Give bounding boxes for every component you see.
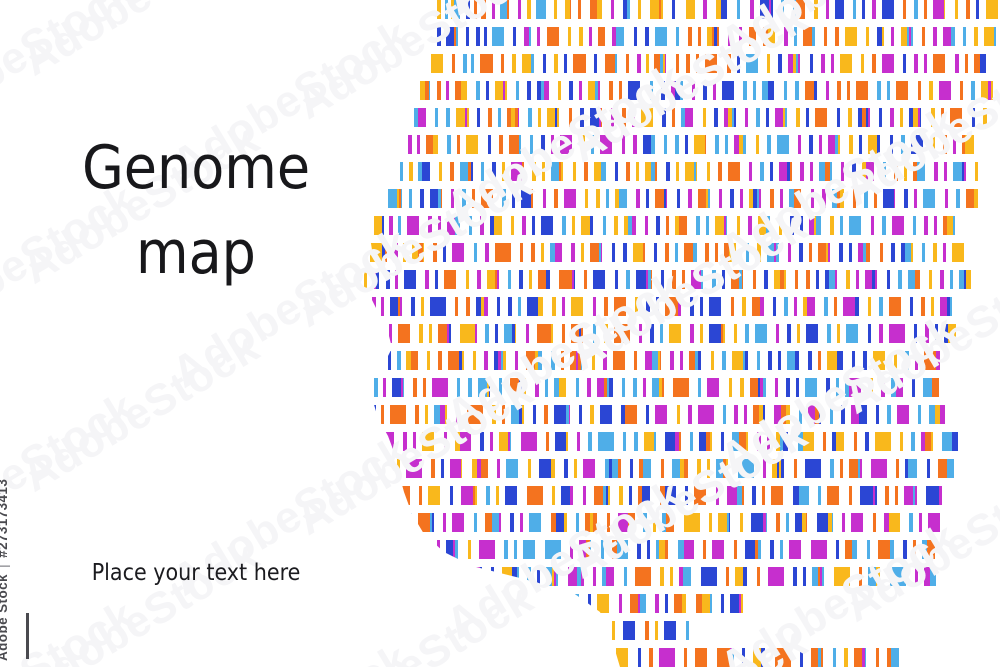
genome-bar bbox=[615, 189, 619, 208]
genome-bar bbox=[745, 540, 755, 559]
genome-bar bbox=[948, 324, 956, 343]
genome-bar bbox=[486, 189, 489, 208]
genome-bar bbox=[698, 27, 701, 46]
genome-bar bbox=[473, 486, 475, 505]
genome-bar bbox=[921, 297, 925, 316]
genome-bar bbox=[830, 162, 832, 181]
genome-bar bbox=[757, 432, 761, 451]
genome-bar bbox=[499, 378, 502, 397]
genome-bar bbox=[903, 405, 909, 424]
genome-bar bbox=[774, 270, 780, 289]
genome-bar bbox=[901, 135, 905, 154]
genome-bar bbox=[890, 540, 894, 559]
genome-bar bbox=[535, 378, 539, 397]
genome-bar bbox=[692, 0, 695, 19]
genome-bar bbox=[403, 432, 407, 451]
genome-bar bbox=[579, 405, 582, 424]
genome-bar bbox=[920, 108, 921, 127]
genome-bar bbox=[860, 459, 862, 478]
genome-bar bbox=[887, 405, 891, 424]
genome-bar bbox=[822, 189, 826, 208]
genome-bar bbox=[730, 189, 734, 208]
genome-bar bbox=[480, 567, 482, 586]
genome-bar bbox=[645, 27, 649, 46]
genome-bar bbox=[445, 405, 447, 424]
genome-bar bbox=[537, 567, 540, 586]
genome-bar bbox=[415, 243, 418, 262]
genome-bar bbox=[889, 324, 905, 343]
genome-bar bbox=[758, 216, 766, 235]
genome-bar bbox=[825, 270, 829, 289]
genome-bar bbox=[924, 351, 936, 370]
genome-bar bbox=[606, 189, 609, 208]
genome-bar bbox=[654, 54, 660, 73]
genome-bar bbox=[614, 216, 618, 235]
genome-bar bbox=[679, 567, 683, 586]
genome-bar bbox=[661, 270, 664, 289]
genome-bar bbox=[570, 540, 573, 559]
genome-bar bbox=[395, 270, 398, 289]
genome-bar bbox=[907, 27, 909, 46]
genome-bar bbox=[753, 189, 757, 208]
genome-bar bbox=[818, 648, 821, 667]
genome-bar bbox=[612, 459, 618, 478]
genome-bar bbox=[890, 108, 894, 127]
genome-bar bbox=[962, 135, 965, 154]
genome-bar bbox=[974, 189, 976, 208]
genome-bar bbox=[447, 324, 449, 343]
genome-bar bbox=[766, 513, 767, 532]
genome-bar bbox=[459, 459, 461, 478]
genome-bar bbox=[817, 513, 828, 532]
genome-bar bbox=[879, 108, 882, 127]
genome-bar bbox=[953, 27, 955, 46]
genome-bar bbox=[917, 162, 925, 181]
genome-bar bbox=[584, 54, 586, 73]
genome-bar bbox=[754, 27, 756, 46]
genome-bar bbox=[446, 540, 453, 559]
genome-bar bbox=[665, 594, 668, 613]
genome-bar bbox=[913, 216, 916, 235]
genome-bar bbox=[696, 162, 697, 181]
genome-bar bbox=[461, 81, 467, 100]
genome-bar bbox=[600, 621, 603, 640]
genome-bar bbox=[490, 432, 493, 451]
genome-bar bbox=[417, 135, 420, 154]
genome-bar bbox=[588, 594, 591, 613]
genome-bar bbox=[581, 351, 582, 370]
genome-bar bbox=[380, 324, 384, 343]
genome-bar bbox=[663, 54, 665, 73]
genome-bar bbox=[559, 270, 570, 289]
genome-bar bbox=[809, 135, 813, 154]
genome-bar bbox=[397, 189, 399, 208]
genome-bar bbox=[560, 243, 562, 262]
genome-bar bbox=[505, 81, 507, 100]
genome-bar bbox=[520, 513, 523, 532]
genome-bar bbox=[590, 540, 591, 559]
genome-bar bbox=[934, 216, 937, 235]
genome-bar bbox=[532, 594, 535, 613]
genome-bar bbox=[684, 513, 700, 532]
genome-bar bbox=[665, 243, 669, 262]
genome-bar bbox=[955, 0, 958, 19]
genome-bar bbox=[858, 459, 860, 478]
genome-bar bbox=[645, 621, 649, 640]
genome-bar bbox=[723, 324, 725, 343]
genome-bar bbox=[852, 162, 856, 181]
genome-row bbox=[364, 270, 971, 289]
genome-bar bbox=[599, 243, 601, 262]
genome-bar bbox=[722, 351, 726, 370]
genome-bar bbox=[768, 216, 770, 235]
genome-bar bbox=[474, 513, 477, 532]
genome-bar bbox=[756, 108, 760, 127]
genome-bar bbox=[752, 297, 760, 316]
genome-bar bbox=[684, 648, 687, 667]
genome-bar bbox=[661, 459, 664, 478]
genome-bar bbox=[905, 243, 911, 262]
genome-bar bbox=[882, 54, 894, 73]
genome-bar bbox=[695, 243, 697, 262]
genome-bar bbox=[481, 594, 483, 613]
genome-bar bbox=[941, 108, 944, 127]
genome-bar bbox=[613, 54, 615, 73]
genome-bar bbox=[466, 297, 470, 316]
genome-bar bbox=[868, 108, 870, 127]
genome-bar bbox=[480, 216, 484, 235]
genome-bar bbox=[751, 27, 754, 46]
genome-bar bbox=[763, 513, 766, 532]
genome-bar bbox=[625, 189, 627, 208]
genome-bar bbox=[664, 621, 676, 640]
genome-bar bbox=[755, 540, 758, 559]
genome-bar bbox=[767, 243, 774, 262]
genome-bar bbox=[830, 405, 833, 424]
genome-bar bbox=[584, 162, 588, 181]
genome-bar bbox=[539, 459, 551, 478]
genome-bar bbox=[650, 81, 653, 100]
genome-bar bbox=[718, 513, 725, 532]
genome-bar bbox=[551, 135, 554, 154]
genome-bar bbox=[554, 405, 566, 424]
genome-bar bbox=[462, 189, 466, 208]
genome-bar bbox=[497, 594, 504, 613]
genome-bar bbox=[561, 162, 563, 181]
genome-bar bbox=[855, 297, 857, 316]
genome-bar bbox=[797, 324, 800, 343]
genome-bar bbox=[800, 216, 803, 235]
genome-bar bbox=[939, 81, 951, 100]
genome-bar bbox=[450, 567, 453, 586]
genome-bar bbox=[694, 486, 706, 505]
genome-bar bbox=[980, 54, 986, 73]
genome-bar bbox=[411, 351, 418, 370]
genome-bar bbox=[604, 594, 609, 613]
genome-bar bbox=[677, 189, 680, 208]
genome-bar bbox=[477, 459, 481, 478]
genome-bar bbox=[578, 0, 581, 19]
genome-bar bbox=[433, 243, 437, 262]
genome-bar bbox=[775, 108, 783, 127]
genome-bar bbox=[476, 27, 480, 46]
genome-bar bbox=[757, 351, 760, 370]
genome-bar bbox=[543, 54, 546, 73]
genome-bar bbox=[903, 0, 906, 19]
genome-bar bbox=[772, 459, 777, 478]
genome-bar bbox=[805, 81, 814, 100]
genome-bar bbox=[547, 594, 550, 613]
genome-bar bbox=[849, 243, 852, 262]
genome-bar bbox=[787, 351, 795, 370]
genome-bar bbox=[762, 486, 765, 505]
genome-bar bbox=[933, 243, 937, 262]
genome-bar bbox=[581, 243, 584, 262]
genome-bar bbox=[564, 513, 567, 532]
genome-bar bbox=[536, 0, 546, 19]
genome-bar bbox=[940, 270, 944, 289]
genome-bar bbox=[443, 243, 446, 262]
genome-bar bbox=[897, 405, 903, 424]
genome-bar bbox=[915, 567, 918, 586]
genome-bar bbox=[981, 81, 988, 100]
genome-bar bbox=[832, 513, 833, 532]
genome-bar bbox=[812, 27, 815, 46]
genome-bar bbox=[936, 351, 940, 370]
genome-bar bbox=[796, 378, 799, 397]
genome-bar bbox=[778, 54, 782, 73]
genome-bar bbox=[966, 189, 974, 208]
genome-bar bbox=[554, 378, 559, 397]
genome-bar bbox=[821, 648, 823, 667]
genome-bar bbox=[467, 108, 469, 127]
genome-bar bbox=[921, 432, 925, 451]
genome-bar bbox=[427, 540, 428, 559]
genome-bar bbox=[885, 486, 889, 505]
genome-bar bbox=[955, 54, 959, 73]
genome-bar bbox=[761, 648, 765, 667]
genome-bar bbox=[576, 513, 579, 532]
genome-bar bbox=[495, 81, 503, 100]
genome-bar bbox=[911, 243, 913, 262]
genome-bar bbox=[779, 162, 787, 181]
genome-bar bbox=[758, 378, 760, 397]
genome-bar bbox=[452, 54, 455, 73]
genome-bar bbox=[533, 405, 536, 424]
genome-bar bbox=[413, 432, 416, 451]
genome-bar bbox=[404, 270, 416, 289]
genome-bar bbox=[651, 270, 652, 289]
genome-bar bbox=[768, 27, 775, 46]
genome-bar bbox=[632, 108, 635, 127]
genome-bar bbox=[558, 621, 560, 640]
genome-bar bbox=[655, 189, 664, 208]
genome-bar bbox=[700, 324, 703, 343]
genome-bar bbox=[734, 324, 737, 343]
genome-bar bbox=[623, 243, 627, 262]
genome-row bbox=[388, 459, 954, 478]
genome-bar bbox=[510, 432, 511, 451]
genome-bar bbox=[844, 648, 848, 667]
genome-bar bbox=[852, 351, 855, 370]
genome-bar bbox=[721, 324, 723, 343]
genome-bar bbox=[743, 81, 747, 100]
genome-bar bbox=[905, 459, 908, 478]
genome-bar bbox=[555, 432, 564, 451]
genome-bar bbox=[732, 108, 734, 127]
genome-bar bbox=[790, 216, 794, 235]
genome-bar bbox=[541, 243, 544, 262]
genome-bar bbox=[675, 432, 679, 451]
genome-bar bbox=[571, 243, 575, 262]
genome-bar bbox=[516, 81, 519, 100]
genome-bar bbox=[922, 27, 925, 46]
genome-bar bbox=[710, 432, 712, 451]
genome-bar bbox=[381, 405, 384, 424]
genome-bar bbox=[504, 324, 512, 343]
genome-bar bbox=[550, 243, 555, 262]
genome-bar bbox=[659, 378, 662, 397]
genome-bar bbox=[854, 648, 862, 667]
genome-bar bbox=[428, 432, 434, 451]
genome-bar bbox=[430, 297, 446, 316]
genome-bar bbox=[776, 513, 780, 532]
genome-bar bbox=[814, 0, 818, 19]
genome-bar bbox=[547, 27, 559, 46]
genome-bar bbox=[498, 108, 501, 127]
genome-bar bbox=[450, 162, 454, 181]
genome-bar bbox=[530, 135, 533, 154]
genome-bar bbox=[891, 378, 896, 397]
genome-bar bbox=[451, 0, 454, 19]
genome-bar bbox=[858, 243, 863, 262]
genome-bar bbox=[629, 486, 632, 505]
genome-bar bbox=[577, 567, 581, 586]
genome-bar bbox=[590, 513, 593, 532]
genome-bar bbox=[409, 162, 413, 181]
genome-bar bbox=[952, 432, 958, 451]
genome-bar bbox=[579, 27, 583, 46]
genome-bar bbox=[737, 0, 740, 19]
genome-bar bbox=[935, 324, 938, 343]
genome-row bbox=[414, 108, 987, 127]
genome-bar bbox=[469, 567, 478, 586]
genome-bar bbox=[986, 0, 994, 19]
genome-bar bbox=[868, 297, 871, 316]
genome-bar bbox=[744, 405, 747, 424]
genome-bar bbox=[887, 648, 891, 667]
genome-bar bbox=[783, 108, 785, 127]
genome-bar bbox=[495, 324, 498, 343]
genome-bar bbox=[930, 567, 936, 586]
genome-bar bbox=[719, 189, 722, 208]
genome-bar bbox=[508, 270, 511, 289]
genome-bar bbox=[896, 459, 899, 478]
genome-bar bbox=[682, 270, 685, 289]
genome-bar bbox=[643, 513, 647, 532]
genome-bar bbox=[646, 54, 649, 73]
genome-row bbox=[400, 513, 940, 532]
genome-bar bbox=[699, 432, 706, 451]
genome-bar bbox=[612, 27, 616, 46]
genome-bar bbox=[418, 513, 430, 532]
genome-bar bbox=[635, 81, 640, 100]
genome-bar bbox=[446, 81, 449, 100]
genome-bar bbox=[507, 108, 511, 127]
genome-bar bbox=[707, 27, 712, 46]
genome-bar bbox=[872, 0, 876, 19]
genome-bar bbox=[822, 567, 824, 586]
genome-bar bbox=[777, 135, 789, 154]
genome-bar bbox=[697, 135, 703, 154]
genome-bar bbox=[439, 162, 442, 181]
genome-bar bbox=[865, 270, 872, 289]
genome-bar bbox=[841, 405, 845, 424]
genome-bar bbox=[473, 351, 476, 370]
genome-bar bbox=[785, 108, 787, 127]
genome-bar bbox=[707, 162, 710, 181]
genome-bar bbox=[487, 378, 489, 397]
genome-bar bbox=[898, 270, 902, 289]
genome-bar bbox=[780, 540, 783, 559]
genome-bar bbox=[567, 486, 570, 505]
genome-bar bbox=[581, 621, 585, 640]
genome-bar bbox=[787, 324, 791, 343]
genome-bar bbox=[706, 189, 708, 208]
genome-bar bbox=[554, 54, 558, 73]
genome-bar bbox=[818, 567, 820, 586]
genome-bar bbox=[506, 459, 518, 478]
genome-bar bbox=[452, 243, 464, 262]
genome-bar bbox=[546, 567, 552, 586]
genome-bar bbox=[788, 243, 791, 262]
genome-bar bbox=[752, 459, 754, 478]
genome-bar bbox=[811, 540, 827, 559]
genome-bar bbox=[698, 405, 707, 424]
genome-bar bbox=[429, 324, 432, 343]
genome-bar bbox=[576, 351, 578, 370]
genome-bar bbox=[389, 324, 392, 343]
genome-bar bbox=[800, 162, 804, 181]
genome-bar bbox=[891, 27, 894, 46]
genome-bar bbox=[591, 135, 594, 154]
genome-bar bbox=[828, 243, 830, 262]
genome-bar bbox=[564, 432, 566, 451]
genome-bar bbox=[950, 297, 952, 316]
genome-bar bbox=[579, 324, 581, 343]
genome-bar bbox=[798, 135, 801, 154]
genome-bar bbox=[644, 432, 650, 451]
genome-bar bbox=[963, 27, 966, 46]
genome-bar bbox=[572, 216, 575, 235]
genome-bar bbox=[923, 378, 932, 397]
genome-bar bbox=[651, 162, 655, 181]
genome-bar bbox=[918, 81, 921, 100]
genome-bar bbox=[913, 108, 918, 127]
genome-bar bbox=[458, 216, 460, 235]
genome-bar bbox=[883, 162, 886, 181]
genome-bar bbox=[798, 54, 800, 73]
genome-bar bbox=[724, 108, 728, 127]
genome-bar bbox=[541, 81, 544, 100]
genome-bar bbox=[388, 351, 391, 370]
genome-bar bbox=[911, 432, 915, 451]
genome-bar bbox=[824, 297, 828, 316]
genome-bar bbox=[630, 459, 633, 478]
genome-bar bbox=[659, 0, 661, 19]
genome-bar bbox=[460, 567, 463, 586]
genome-row bbox=[431, 54, 986, 73]
